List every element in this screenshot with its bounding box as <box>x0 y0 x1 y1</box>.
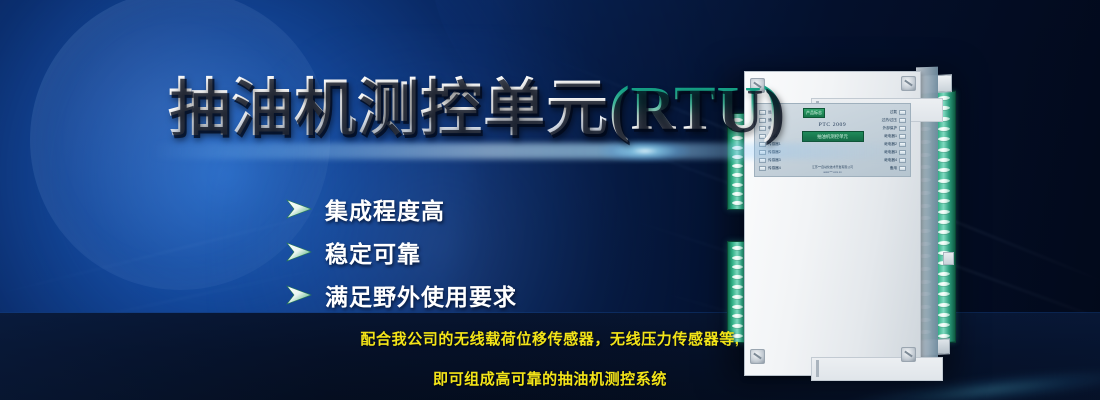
list-item-label: 集成程度高 <box>325 192 445 226</box>
page-title-en: (RTU) <box>609 75 784 143</box>
arrow-right-icon <box>286 285 312 305</box>
list-item-label: 满足野外使用要求 <box>325 278 517 312</box>
footer-line-1: 配合我公司的无线载荷位移传感器，无线压力传感器等, <box>0 332 1100 347</box>
feature-list: 集成程度高 稳定可靠 满足野外使用要求 <box>286 188 517 317</box>
title-flare-star <box>600 140 690 162</box>
list-item-label: 稳定可靠 <box>325 235 421 269</box>
banner-content: 抽油机测控单元(RTU) 集成程度高 <box>0 0 1100 400</box>
page-title: 抽油机测控单元(RTU) <box>168 78 784 140</box>
list-item: 稳定可靠 <box>286 231 517 272</box>
footer-line-2: 即可组成高可靠的抽油机测控系统 <box>0 372 1100 387</box>
page-title-cn: 抽油机测控单元 <box>168 74 609 143</box>
list-item: 集成程度高 <box>286 188 517 229</box>
list-item: 满足野外使用要求 <box>286 274 517 315</box>
arrow-right-icon <box>286 199 312 219</box>
product-banner: 产品标志 运 行 通 讯 电机2 电机1 <box>0 0 1100 400</box>
title-light-flare <box>150 143 910 159</box>
footer-text-block: 配合我公司的无线载荷位移传感器，无线压力传感器等, 即可组成高可靠的抽油机测控系… <box>0 332 1100 387</box>
arrow-right-icon <box>286 242 312 262</box>
